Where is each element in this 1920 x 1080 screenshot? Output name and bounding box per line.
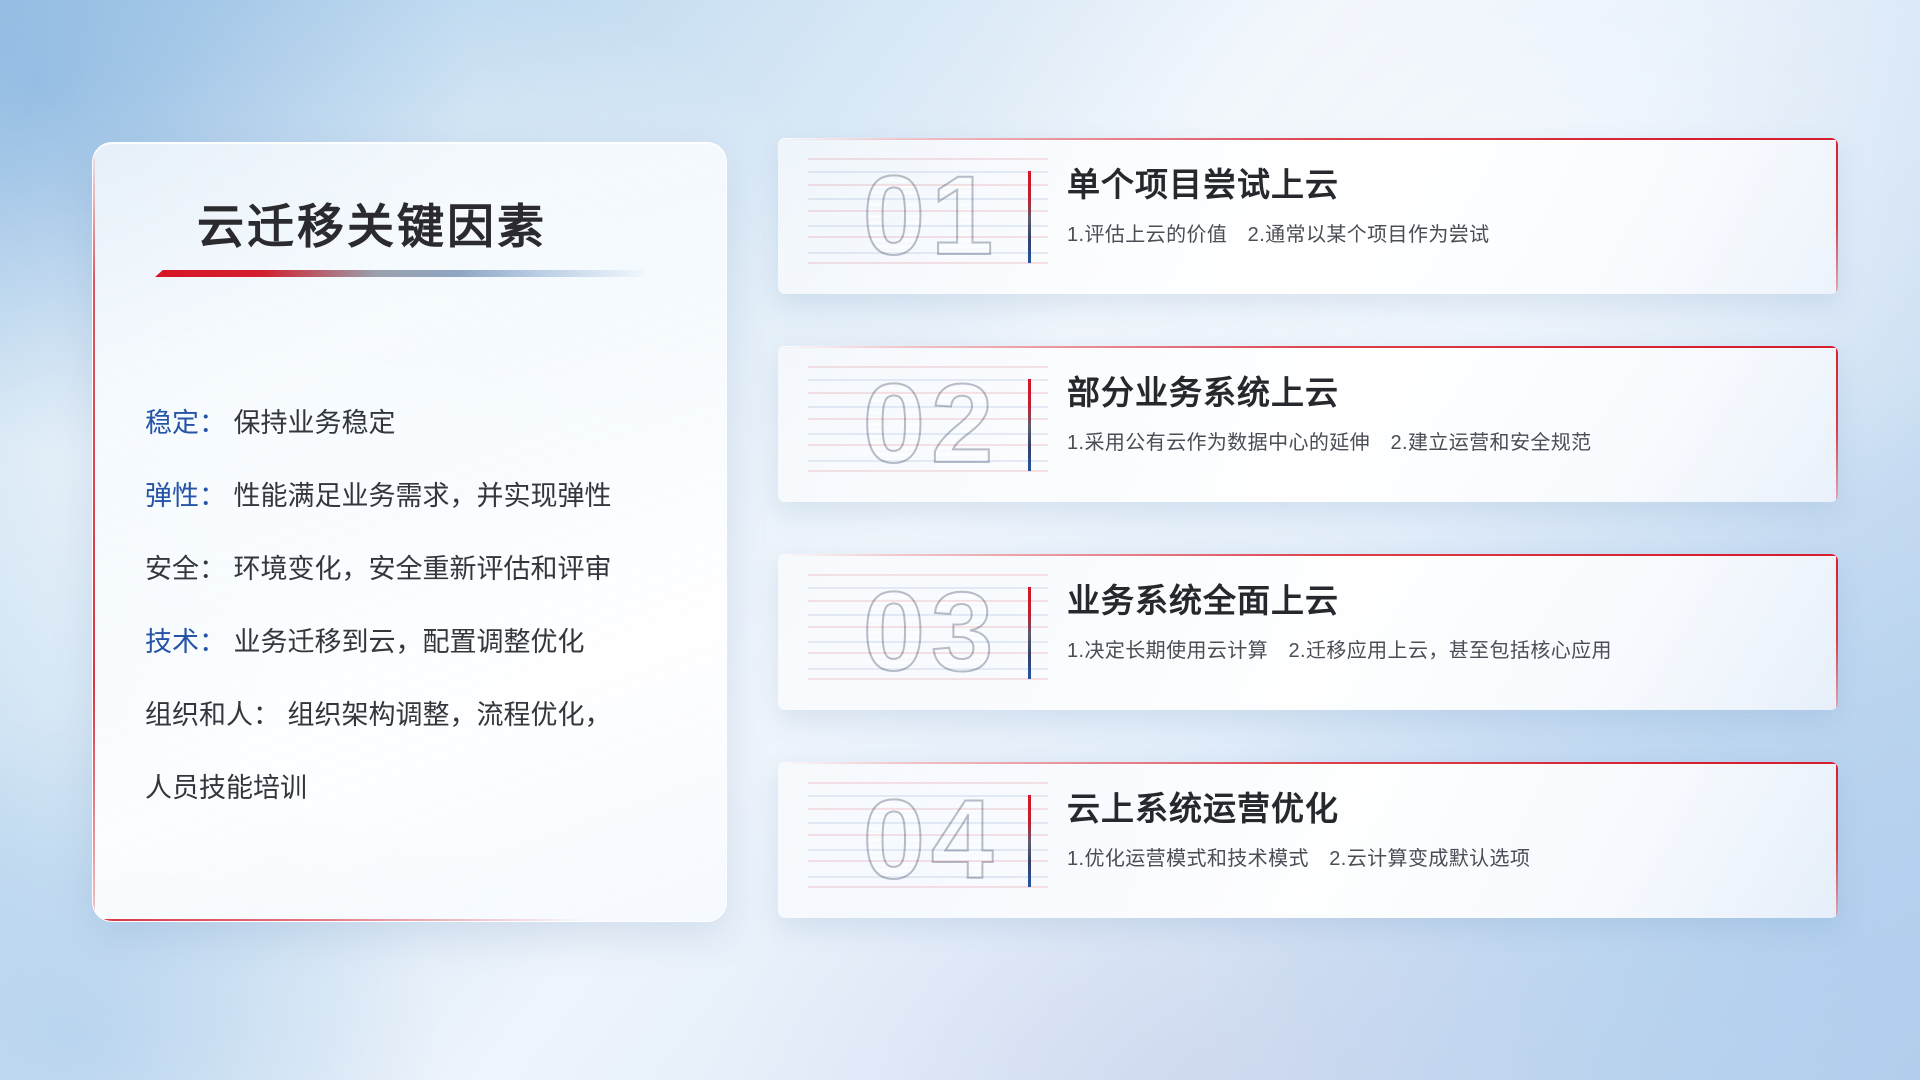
stage-title: 单个项目尝试上云 xyxy=(1067,160,1812,210)
stage-divider-bar xyxy=(1028,379,1031,471)
stage-description: 1.优化运营模式和技术模式 2.云计算变成默认选项 xyxy=(1067,844,1812,874)
list-item: 弹性： 性能满足业务需求，并实现弹性 xyxy=(145,460,685,533)
factor-text: 组织架构调整，流程优化， xyxy=(288,700,612,730)
page-title: 云迁移关键因素 xyxy=(197,188,547,257)
stage-divider-bar xyxy=(1028,587,1031,679)
card-right-accent xyxy=(1836,762,1838,918)
key-factors-panel: 云迁移关键因素 稳定： 保持业务稳定 弹性： 性能满足业务需求，并实现弹性 安全… xyxy=(92,142,727,922)
stage-card[interactable]: 04 云上系统运营优化 1.优化运营模式和技术模式 2.云计算变成默认选项 xyxy=(778,762,1838,918)
stage-number-watermark: 04 xyxy=(778,762,1078,918)
stage-number: 04 xyxy=(806,770,1056,910)
card-right-accent xyxy=(1836,554,1838,710)
card-right-accent xyxy=(1836,346,1838,502)
list-item: 稳定： 保持业务稳定 xyxy=(145,387,685,460)
stage-content: 云上系统运营优化 1.优化运营模式和技术模式 2.云计算变成默认选项 xyxy=(1067,784,1812,874)
factor-label: 组织和人： xyxy=(145,700,280,730)
stage-content: 单个项目尝试上云 1.评估上云的价值 2.通常以某个项目作为尝试 xyxy=(1067,160,1812,250)
factor-label: 稳定： xyxy=(145,408,226,438)
stage-title: 云上系统运营优化 xyxy=(1067,784,1812,834)
stage-divider-bar xyxy=(1028,795,1031,887)
migration-stages-list: 01 单个项目尝试上云 1.评估上云的价值 2.通常以某个项目作为尝试 02 部… xyxy=(778,138,1838,918)
stage-card[interactable]: 02 部分业务系统上云 1.采用公有云作为数据中心的延伸 2.建立运营和安全规范 xyxy=(778,346,1838,502)
key-factors-list: 稳定： 保持业务稳定 弹性： 性能满足业务需求，并实现弹性 安全： 环境变化，安… xyxy=(145,387,685,825)
stage-description: 1.决定长期使用云计算 2.迁移应用上云，甚至包括核心应用 xyxy=(1067,636,1812,666)
stage-title: 业务系统全面上云 xyxy=(1067,576,1812,626)
stage-number-watermark: 03 xyxy=(778,554,1078,710)
factor-label: 技术： xyxy=(145,627,226,657)
stage-number: 02 xyxy=(806,354,1056,494)
stage-title: 部分业务系统上云 xyxy=(1067,368,1812,418)
slide-canvas: 云迁移关键因素 稳定： 保持业务稳定 弹性： 性能满足业务需求，并实现弹性 安全… xyxy=(0,0,1920,1080)
title-underline-rule xyxy=(155,270,645,277)
factor-text: 保持业务稳定 xyxy=(234,408,396,438)
factor-text: 业务迁移到云，配置调整优化 xyxy=(234,627,585,657)
stage-divider-bar xyxy=(1028,171,1031,263)
factor-label: 安全： xyxy=(145,554,226,584)
factor-label: 弹性： xyxy=(145,481,226,511)
stage-number-watermark: 02 xyxy=(778,346,1078,502)
stage-number: 01 xyxy=(806,146,1056,286)
list-item: 人员技能培训 xyxy=(145,752,685,825)
list-item: 安全： 环境变化，安全重新评估和评审 xyxy=(145,533,685,606)
stage-description: 1.采用公有云作为数据中心的延伸 2.建立运营和安全规范 xyxy=(1067,428,1812,458)
factor-text: 人员技能培训 xyxy=(145,773,307,803)
stage-card[interactable]: 01 单个项目尝试上云 1.评估上云的价值 2.通常以某个项目作为尝试 xyxy=(778,138,1838,294)
stage-number-watermark: 01 xyxy=(778,138,1078,294)
list-item: 组织和人： 组织架构调整，流程优化， xyxy=(145,679,685,752)
factor-text: 环境变化，安全重新评估和评审 xyxy=(234,554,612,584)
stage-description: 1.评估上云的价值 2.通常以某个项目作为尝试 xyxy=(1067,220,1812,250)
card-right-accent xyxy=(1836,138,1838,294)
stage-card[interactable]: 03 业务系统全面上云 1.决定长期使用云计算 2.迁移应用上云，甚至包括核心应… xyxy=(778,554,1838,710)
stage-content: 部分业务系统上云 1.采用公有云作为数据中心的延伸 2.建立运营和安全规范 xyxy=(1067,368,1812,458)
list-item: 技术： 业务迁移到云，配置调整优化 xyxy=(145,606,685,679)
factor-text: 性能满足业务需求，并实现弹性 xyxy=(234,481,612,511)
stage-content: 业务系统全面上云 1.决定长期使用云计算 2.迁移应用上云，甚至包括核心应用 xyxy=(1067,576,1812,666)
stage-number: 03 xyxy=(806,562,1056,702)
